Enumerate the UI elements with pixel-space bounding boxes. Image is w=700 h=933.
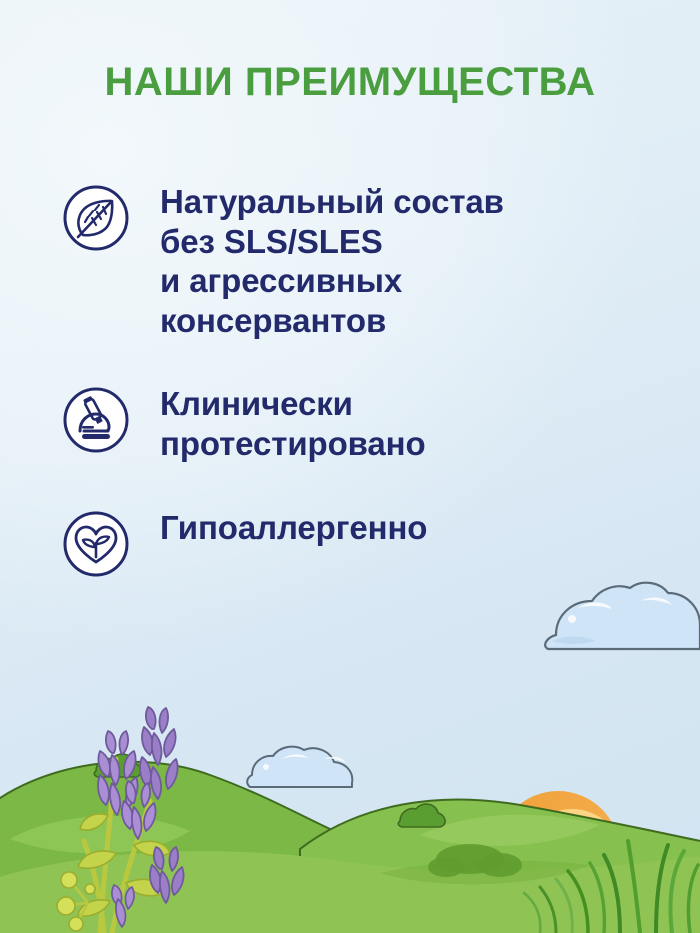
bush-cluster <box>428 844 522 877</box>
lavender-spike <box>98 731 138 815</box>
sun <box>496 791 624 915</box>
promo-poster: НАШИ ПРЕИМУЩЕСТВА Натуральный состав без… <box>0 0 700 933</box>
page-title: НАШИ ПРЕИМУЩЕСТВА <box>0 60 700 105</box>
microscope-icon <box>62 386 130 454</box>
lavender-spike <box>122 781 156 839</box>
landscape-illustration <box>0 553 700 933</box>
hill-front <box>0 844 700 933</box>
lavender-spike <box>150 847 184 903</box>
lavender-plant <box>57 707 184 933</box>
hill-back-right <box>300 799 700 933</box>
grass-tuft-right <box>524 841 698 933</box>
cloud-small-center <box>247 747 352 787</box>
hill-back-left <box>0 754 330 933</box>
benefit-label: Натуральный состав без SLS/SLES и агресс… <box>160 180 504 340</box>
benefit-item-hypoallergenic: Гипоаллергенно <box>62 506 662 578</box>
lavender-spike <box>140 707 178 799</box>
heart-sprout-icon <box>62 510 130 578</box>
benefit-item-clinically-tested: Клинически протестировано <box>62 382 662 463</box>
benefit-label: Клинически протестировано <box>160 382 426 463</box>
benefits-list: Натуральный состав без SLS/SLES и агресс… <box>62 180 662 578</box>
benefit-label: Гипоаллергенно <box>160 506 427 548</box>
benefit-item-natural-composition: Натуральный состав без SLS/SLES и агресс… <box>62 180 662 340</box>
leaf-icon <box>62 184 130 252</box>
cloud-large-right <box>545 583 700 649</box>
lavender-spike <box>112 885 134 927</box>
